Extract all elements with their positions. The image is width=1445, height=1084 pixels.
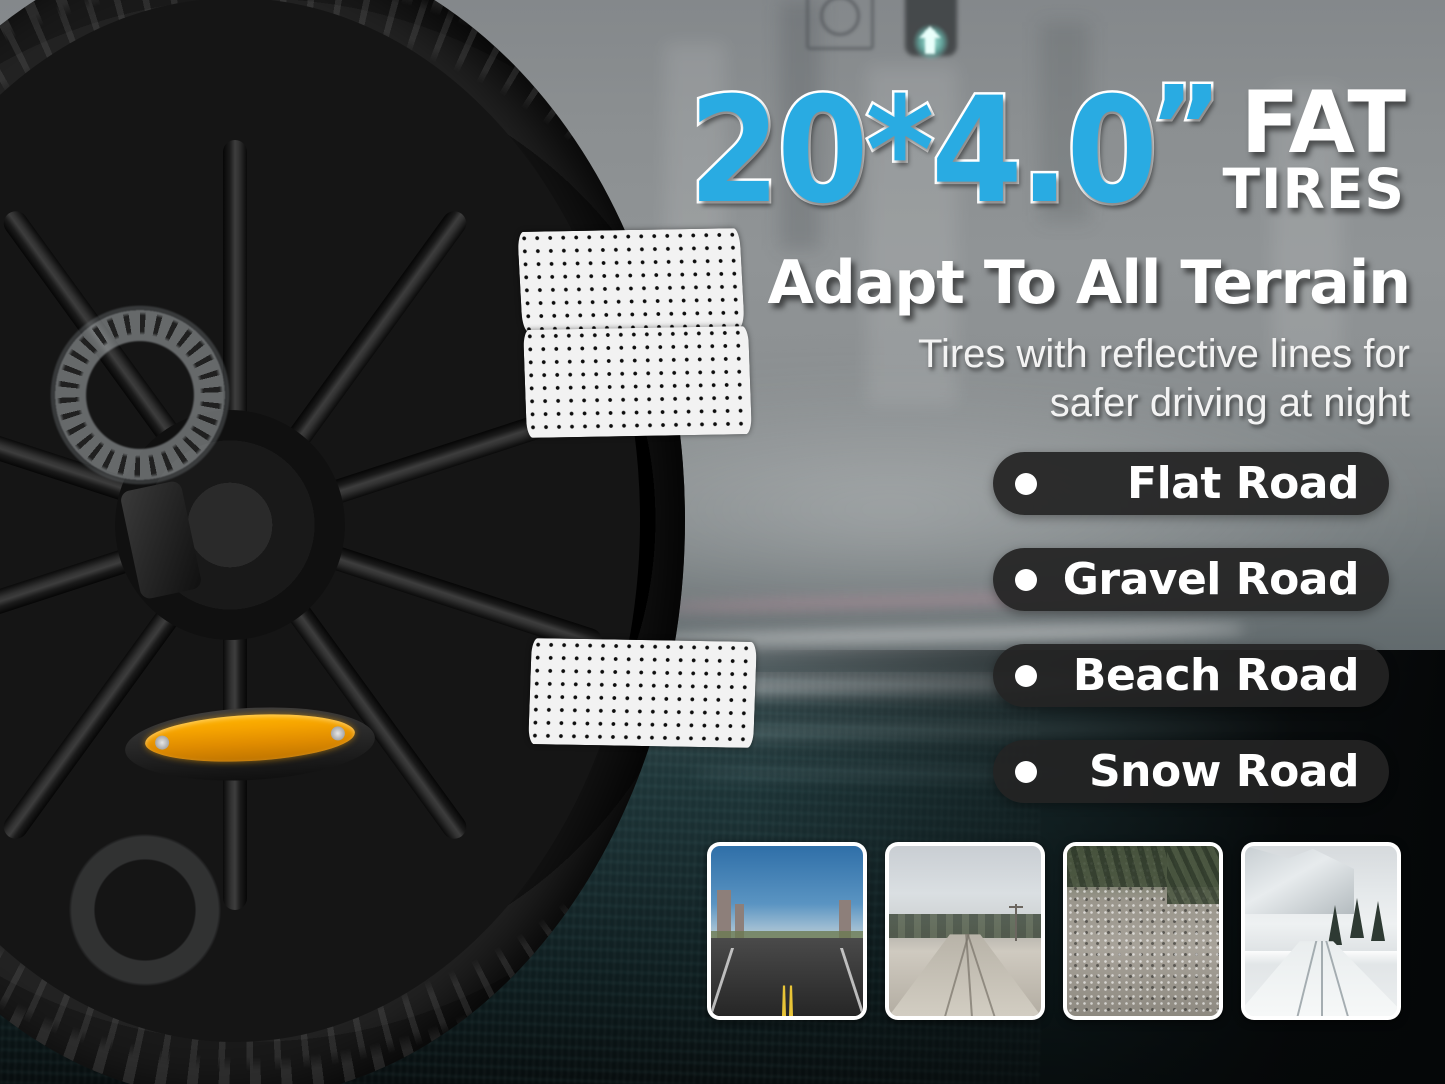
headline-size: 20 (689, 78, 866, 224)
terrain-pill-snow-road[interactable]: Snow Road (993, 740, 1389, 803)
description: Tires with reflective lines for safer dr… (690, 330, 1410, 428)
pine-tree (1350, 898, 1364, 938)
disc-brake-vent-holes (15, 270, 265, 520)
headline-inch-mark: ” (1149, 72, 1219, 184)
reflector-rivet (331, 726, 346, 741)
tire-track (1321, 941, 1323, 1016)
bullet-dot-icon (1015, 473, 1037, 495)
subheadline: Adapt To All Terrain (620, 248, 1410, 318)
headline-separator: * (866, 78, 932, 224)
promo-banner: 20 * 4.0 ” FAT TIRES Adapt To All Terrai… (0, 0, 1445, 1084)
bullet-dot-icon (1015, 665, 1037, 687)
terrain-pill-flat-road[interactable]: Flat Road (993, 452, 1389, 515)
thumbnail-beach-road[interactable] (1063, 842, 1223, 1020)
vegetation (1167, 846, 1219, 904)
disc-brake-rotor (35, 800, 255, 1020)
utility-pole (1015, 904, 1017, 941)
headline-width: 4.0 (931, 78, 1155, 224)
bullet-dot-icon (1015, 761, 1037, 783)
bullet-dot-icon (1015, 569, 1037, 591)
terrain-pill-gravel-road[interactable]: Gravel Road (993, 548, 1389, 611)
terrain-pill-label: Gravel Road (1063, 554, 1359, 605)
pine-tree (1371, 901, 1385, 941)
headline-tires: TIRES (1222, 162, 1405, 217)
description-line-2: safer driving at night (690, 379, 1410, 428)
beach-road-photo (1067, 846, 1219, 1016)
thumbnail-snow-road[interactable] (1241, 842, 1401, 1020)
terrain-pill-label: Beach Road (1073, 650, 1359, 701)
thumbnail-gravel-road[interactable] (885, 842, 1045, 1020)
reflective-strap (528, 638, 757, 748)
headline-fat: FAT (1241, 86, 1405, 162)
no-turn-sign-icon (806, 0, 874, 50)
gravel-road-photo (889, 846, 1041, 1016)
thumbnail-flat-road[interactable] (707, 842, 867, 1020)
snow-road-photo (1245, 846, 1397, 1016)
terrain-pill-label: Flat Road (1127, 458, 1359, 509)
terrain-pill-label: Snow Road (1089, 746, 1359, 797)
reflector-rivet (155, 735, 170, 750)
green-arrow-icon (913, 24, 949, 60)
description-line-1: Tires with reflective lines for (690, 330, 1410, 379)
terrain-thumbnail-strip (707, 842, 1407, 1020)
headline: 20 * 4.0 ” FAT TIRES (600, 78, 1405, 224)
terrain-pill-list: Flat Road Gravel Road Beach Road Snow Ro… (993, 452, 1389, 836)
flat-road-photo (711, 846, 863, 1016)
terrain-pill-beach-road[interactable]: Beach Road (993, 644, 1389, 707)
pine-tree (1328, 905, 1342, 945)
